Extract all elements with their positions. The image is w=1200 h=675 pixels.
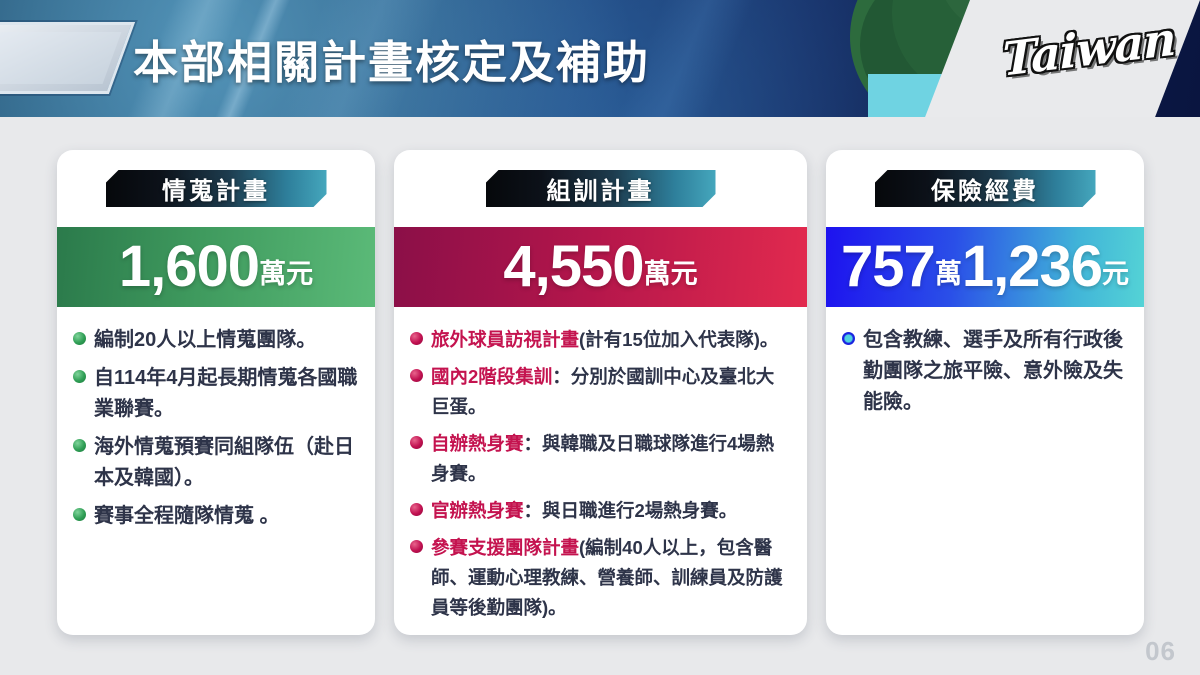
list-item: 國內2階段集訓：分別於國訓中心及臺北大巨蛋。 bbox=[410, 362, 791, 422]
card-1-amount-value: 1,600 bbox=[119, 238, 259, 296]
list-item-keyword: 旅外球員訪視計畫 bbox=[431, 329, 579, 350]
bullet-dot-icon bbox=[73, 332, 86, 345]
card-3-amount-unit-2: 元 bbox=[1102, 261, 1129, 288]
list-item-keyword: 國內2階段集訓 bbox=[431, 366, 552, 387]
card-3-body: 包含教練、選手及所有行政後勤團隊之旅平險、意外險及失能險。 bbox=[826, 307, 1144, 435]
list-item-text: 參賽支援團隊計畫(編制40人以上，包含醫師、運動心理教練、營養師、訓練員及防護員… bbox=[431, 533, 791, 623]
list-item-keyword: 官辦熱身賽 bbox=[431, 500, 524, 521]
card-1-body: 編制20人以上情蒐團隊。 自114年4月起長期情蒐各國職業聯賽。 海外情蒐預賽同… bbox=[57, 307, 375, 549]
list-item-detail: (計有15位加入代表隊)。 bbox=[579, 329, 778, 350]
list-item-keyword: 參賽支援團隊計畫 bbox=[431, 537, 579, 558]
cards-container: 情蒐計畫 1,600 萬元 編制20人以上情蒐團隊。 自114年4月起長期情蒐各… bbox=[0, 117, 1200, 675]
card-2-amount: 4,550 萬元 bbox=[394, 227, 807, 307]
list-item-text: 海外情蒐預賽同組隊伍（赴日本及韓國）。 bbox=[94, 432, 359, 494]
card-3-amount-value: 757 bbox=[841, 238, 935, 296]
list-item-text: 自辦熱身賽：與韓職及日職球隊進行4場熱身賽。 bbox=[431, 429, 791, 489]
card-3-amount: 757 萬 1,236 元 bbox=[826, 227, 1144, 307]
list-item-keyword: 自辦熱身賽 bbox=[431, 433, 524, 454]
page-title: 本部相關計畫核定及補助 bbox=[133, 26, 650, 91]
list-item: 自114年4月起長期情蒐各國職業聯賽。 bbox=[73, 363, 359, 425]
list-item-text: 賽事全程隨隊情蒐 。 bbox=[94, 501, 280, 532]
list-item: 參賽支援團隊計畫(編制40人以上，包含醫師、運動心理教練、營養師、訓練員及防護員… bbox=[410, 533, 791, 623]
card-2-amount-unit: 萬元 bbox=[644, 261, 698, 288]
list-item: 賽事全程隨隊情蒐 。 bbox=[73, 501, 359, 532]
list-item: 旅外球員訪視計畫(計有15位加入代表隊)。 bbox=[410, 325, 791, 355]
card-2-amount-value: 4,550 bbox=[503, 238, 643, 296]
list-item: 自辦熱身賽：與韓職及日職球隊進行4場熱身賽。 bbox=[410, 429, 791, 489]
card-3-badge-wrap: 保險經費 bbox=[826, 150, 1144, 227]
card-1-badge-wrap: 情蒐計畫 bbox=[57, 150, 375, 227]
list-item-text: 編制20人以上情蒐團隊。 bbox=[94, 325, 316, 356]
list-item: 官辦熱身賽：與日職進行2場熱身賽。 bbox=[410, 496, 791, 526]
card-1-amount: 1,600 萬元 bbox=[57, 227, 375, 307]
list-item: 海外情蒐預賽同組隊伍（赴日本及韓國）。 bbox=[73, 432, 359, 494]
card-insurance-budget: 保險經費 757 萬 1,236 元 包含教練、選手及所有行政後勤團隊之旅平險、… bbox=[826, 150, 1144, 635]
bullet-dot-icon bbox=[73, 508, 86, 521]
list-item-text: 包含教練、選手及所有行政後勤團隊之旅平險、意外險及失能險。 bbox=[863, 325, 1128, 418]
list-item-text: 國內2階段集訓：分別於國訓中心及臺北大巨蛋。 bbox=[431, 362, 791, 422]
bullet-dot-icon bbox=[410, 332, 423, 345]
list-item: 編制20人以上情蒐團隊。 bbox=[73, 325, 359, 356]
card-2-badge-wrap: 組訓計畫 bbox=[394, 150, 807, 227]
bullet-dot-icon bbox=[410, 436, 423, 449]
bullet-dot-icon bbox=[410, 369, 423, 382]
list-item-detail: ：與日職進行2場熱身賽。 bbox=[524, 500, 738, 521]
banner-emblem-inner-shape bbox=[0, 32, 121, 84]
header-banner: 本部相關計畫核定及補助 Taiwan bbox=[0, 0, 1200, 117]
card-1-badge-label: 情蒐計畫 bbox=[106, 170, 327, 207]
card-1-amount-unit: 萬元 bbox=[259, 261, 313, 288]
list-item-text: 官辦熱身賽：與日職進行2場熱身賽。 bbox=[431, 496, 737, 526]
card-training-plan: 組訓計畫 4,550 萬元 旅外球員訪視計畫(計有15位加入代表隊)。 國內2階… bbox=[394, 150, 807, 635]
card-3-amount-value-2: 1,236 bbox=[962, 238, 1102, 296]
list-item: 包含教練、選手及所有行政後勤團隊之旅平險、意外險及失能險。 bbox=[842, 325, 1128, 418]
card-2-body: 旅外球員訪視計畫(計有15位加入代表隊)。 國內2階段集訓：分別於國訓中心及臺北… bbox=[394, 307, 807, 635]
bullet-dot-icon bbox=[73, 439, 86, 452]
bullet-dot-icon bbox=[842, 332, 855, 345]
list-item-text: 旅外球員訪視計畫(計有15位加入代表隊)。 bbox=[431, 325, 778, 355]
bullet-dot-icon bbox=[73, 370, 86, 383]
card-3-amount-unit: 萬 bbox=[935, 261, 962, 288]
page-number: 06 bbox=[1145, 636, 1176, 667]
card-2-badge-label: 組訓計畫 bbox=[486, 170, 716, 207]
card-3-badge-label: 保險經費 bbox=[875, 170, 1096, 207]
bullet-dot-icon bbox=[410, 503, 423, 516]
list-item-text: 自114年4月起長期情蒐各國職業聯賽。 bbox=[94, 363, 359, 425]
bullet-dot-icon bbox=[410, 540, 423, 553]
card-intelligence-plan: 情蒐計畫 1,600 萬元 編制20人以上情蒐團隊。 自114年4月起長期情蒐各… bbox=[57, 150, 375, 635]
